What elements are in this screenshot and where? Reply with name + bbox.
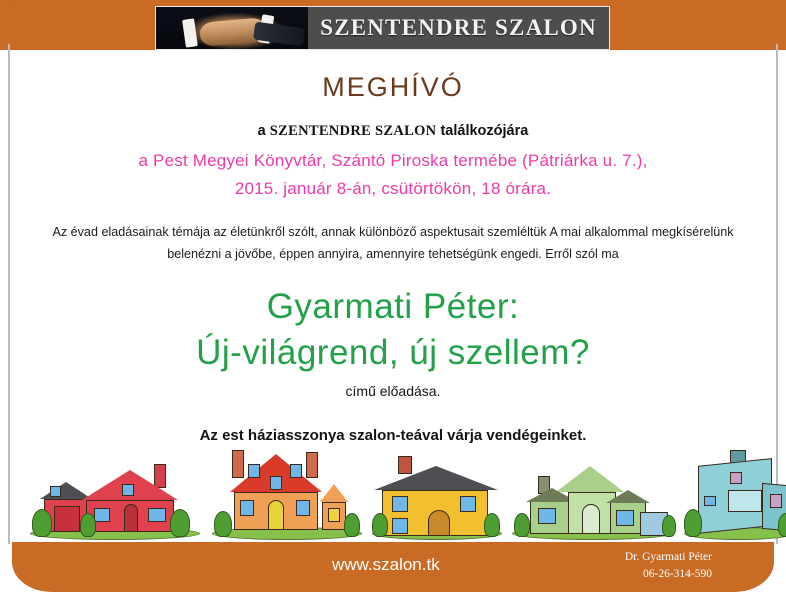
yellow-house-bush-left xyxy=(372,513,388,537)
blue-house-window-small-left xyxy=(704,496,716,506)
red-house-window-attic xyxy=(50,486,61,497)
venue-line: a Pest Megyei Könyvtár, Szántó Piroska t… xyxy=(20,151,766,171)
blue-house xyxy=(684,448,786,542)
blue-house-window-small-upper xyxy=(730,472,742,484)
header-banner: SZENTENDRE SZALON xyxy=(155,6,610,50)
yellow-house-window-lower-left xyxy=(392,518,408,534)
green-house xyxy=(512,454,672,542)
subject-organization: SZENTENDRE SZALON xyxy=(270,123,437,139)
blue-house-bush-right xyxy=(778,513,786,537)
blue-house-window-right xyxy=(770,494,782,508)
red-house-bush-left xyxy=(32,509,52,537)
date-line: 2015. január 8-án, csütörtökön, 18 órára… xyxy=(20,179,766,199)
blue-house-bush-left xyxy=(684,509,702,537)
handshake-photo xyxy=(156,7,308,49)
contact-phone: 06-26-314-590 xyxy=(625,566,712,583)
yellow-house-front-door xyxy=(428,510,450,536)
subject-prefix: a xyxy=(258,123,270,139)
hostess-note: Az est háziasszonya szalon-teával várja … xyxy=(20,427,766,444)
orange-house-gable-window xyxy=(270,476,282,490)
orange-house-annex-roof xyxy=(320,484,348,502)
red-house-window-left xyxy=(94,508,110,522)
contact-name: Dr. Gyarmati Péter xyxy=(625,549,712,566)
red-house xyxy=(30,450,200,542)
website-url[interactable]: www.szalon.tk xyxy=(332,555,440,575)
yellow-house xyxy=(372,452,502,542)
orange-house-dormer-left xyxy=(248,464,260,478)
green-house-bush-left xyxy=(514,513,530,537)
footer-bar: www.szalon.tk Dr. Gyarmati Péter 06-26-3… xyxy=(12,542,774,592)
invitation-content: MEGHÍVÓ a SZENTENDRE SZALON találkozójár… xyxy=(20,60,766,444)
invitation-page: SZENTENDRE SZALON MEGHÍVÓ a SZENTENDRE S… xyxy=(0,0,786,600)
lecture-suffix: című előadása. xyxy=(20,383,766,399)
green-house-window-left xyxy=(538,508,556,524)
blue-house-large-window xyxy=(728,490,762,512)
green-house-front-door xyxy=(582,504,600,534)
orange-house-bush-right xyxy=(344,513,360,537)
orange-house-annex-window xyxy=(328,508,340,522)
left-frame-line xyxy=(8,44,10,544)
lecture-title: Új-világrend, új szellem? xyxy=(20,333,766,373)
orange-house-window-left xyxy=(240,500,254,516)
red-house-bush-right xyxy=(170,509,190,537)
orange-house-bush-left xyxy=(214,511,232,537)
green-house-right-roof xyxy=(606,490,650,503)
houses-illustration xyxy=(12,446,774,542)
yellow-house-bush-right xyxy=(484,513,500,537)
yellow-house-roof xyxy=(374,466,498,490)
red-house-front-door xyxy=(124,504,138,532)
yellow-house-window-upper-right xyxy=(460,496,476,512)
banner-title: SZENTENDRE SZALON xyxy=(320,15,597,41)
orange-house-dormer-right xyxy=(290,464,302,478)
suit-sleeve xyxy=(253,22,305,47)
orange-house-front-door xyxy=(268,500,284,530)
red-house-window-gable xyxy=(122,484,134,496)
green-house-bush-right xyxy=(662,515,676,537)
red-house-garage-door xyxy=(54,506,80,532)
red-house-window-right xyxy=(148,508,166,522)
top-left-corner-decoration xyxy=(0,0,154,50)
shirt-cuff-left xyxy=(182,18,198,47)
banner-title-plate: SZENTENDRE SZALON xyxy=(308,7,609,49)
subject-suffix: találkozójára xyxy=(436,123,528,139)
contact-block: Dr. Gyarmati Péter 06-26-314-590 xyxy=(625,549,712,584)
orange-house-window-right xyxy=(296,500,310,516)
yellow-house-window-upper-left xyxy=(392,496,408,512)
orange-house xyxy=(212,446,362,542)
speaker-name: Gyarmati Péter: xyxy=(20,287,766,327)
top-right-corner-decoration xyxy=(632,0,786,50)
red-house-bush-mid xyxy=(80,513,96,537)
invitation-subject: a SZENTENDRE SZALON találkozójára xyxy=(20,123,766,140)
intro-paragraph: Az évad eladásainak témája az életünkről… xyxy=(35,221,751,265)
page-title: MEGHÍVÓ xyxy=(20,72,766,103)
green-house-window-right xyxy=(616,510,634,526)
